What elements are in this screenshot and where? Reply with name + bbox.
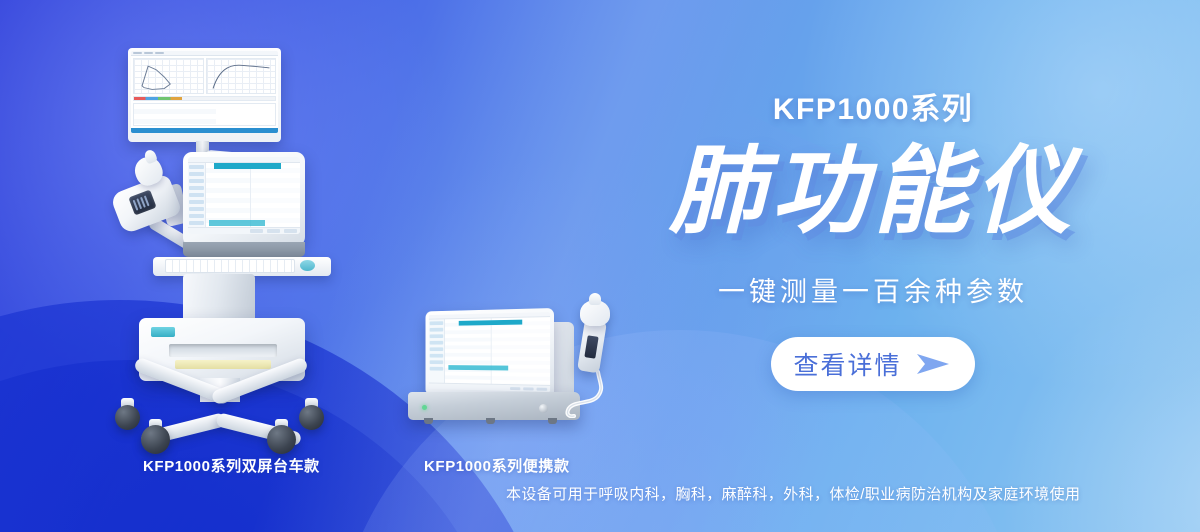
cart-caster-rear-left xyxy=(141,425,170,454)
touchscreen-sidebar xyxy=(188,163,206,227)
portable-foot-center xyxy=(486,418,495,424)
cart-caster-front-right xyxy=(299,405,324,430)
touchscreen-buttonbar xyxy=(188,227,300,234)
touchscreen-row-highlight xyxy=(209,220,265,226)
monitor-statusbar xyxy=(131,128,278,133)
printer-badge xyxy=(151,327,175,337)
flow-volume-loop-chart xyxy=(133,58,204,94)
portable-port-knob xyxy=(539,404,548,413)
touchscreen-base xyxy=(183,242,305,257)
touchscreen-display xyxy=(188,157,300,234)
printer-output-tray xyxy=(175,360,271,369)
volume-time-curve-chart xyxy=(206,58,277,94)
banner-footnote: 本设备可用于呼吸内科，胸科，麻醉科，外科，体检/职业病防治机构及家庭环境使用 xyxy=(506,483,1080,504)
cart-caster-rear-right xyxy=(267,425,296,454)
chart-legend xyxy=(133,96,276,101)
printer-paper-slot xyxy=(169,344,277,357)
portable-spirometer-cable xyxy=(558,370,610,418)
portable-data-grid-left xyxy=(445,318,492,383)
product-series-eyebrow: KFP1000系列 xyxy=(638,84,1108,128)
cart-monitor-screen xyxy=(131,51,278,133)
portable-data-grid-right xyxy=(492,317,550,385)
portable-spirometer-mouthpiece xyxy=(589,293,601,305)
touchscreen-content xyxy=(188,163,300,227)
cart-touchscreen-monitor xyxy=(183,152,305,246)
portable-row-highlight xyxy=(448,365,508,370)
product-image-portable-unit xyxy=(408,308,628,433)
portable-foot-left xyxy=(424,418,433,424)
cart-caster-front-left xyxy=(115,405,140,430)
cart-keyboard xyxy=(165,259,295,273)
cart-handheld-spirometer xyxy=(105,155,183,240)
monitor-results-table xyxy=(133,103,276,126)
caption-cart-system: KFP1000系列双屏台车款 xyxy=(143,455,320,476)
cart-mouse xyxy=(300,260,315,271)
portable-sidebar xyxy=(429,319,445,382)
touchscreen-data-grid-left xyxy=(206,163,251,227)
banner-headline: 肺功能仪 xyxy=(638,140,1108,244)
caption-portable-unit: KFP1000系列便携款 xyxy=(424,455,570,476)
portable-base-housing xyxy=(408,392,580,420)
monitor-charts xyxy=(131,56,278,96)
portable-content xyxy=(429,317,550,385)
portable-display-housing xyxy=(425,308,554,396)
touchscreen-data-grid-right xyxy=(251,163,300,227)
results-table-values xyxy=(134,104,216,125)
cart-main-monitor xyxy=(128,48,281,142)
view-details-label: 查看详情 xyxy=(793,346,901,382)
cart-upper-column xyxy=(183,274,255,322)
portable-foot-right xyxy=(548,418,557,424)
arrow-right-icon xyxy=(913,351,953,377)
product-banner: KFP1000系列 肺功能仪 一键测量一百余种参数 查看详情 KFP1000系列… xyxy=(0,0,1200,532)
results-table-notes xyxy=(216,104,275,125)
portable-power-led xyxy=(422,405,427,410)
banner-subheadline: 一键测量一百余种参数 xyxy=(638,270,1108,309)
touchscreen-header-highlight xyxy=(214,163,281,169)
view-details-button[interactable]: 查看详情 xyxy=(771,337,975,391)
portable-screen xyxy=(429,312,550,392)
product-image-cart-system xyxy=(95,40,345,450)
banner-copy-block: KFP1000系列 肺功能仪 一键测量一百余种参数 查看详情 xyxy=(638,84,1108,391)
